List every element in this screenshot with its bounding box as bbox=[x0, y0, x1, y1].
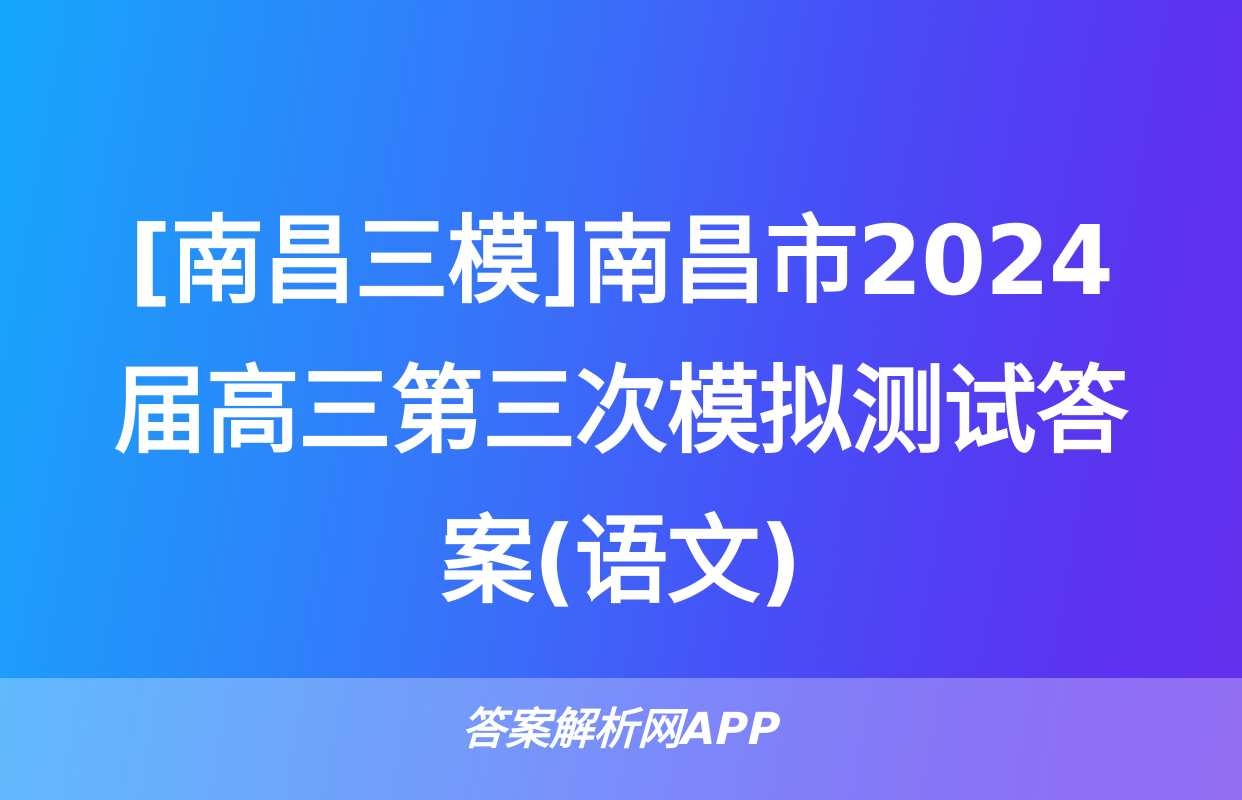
poster-canvas: [南昌三模]南昌市2024 届高三第三次模拟测试答 案(语文) 答案解析网APP bbox=[0, 0, 1242, 800]
poster-title: [南昌三模]南昌市2024 届高三第三次模拟测试答 案(语文) bbox=[0, 186, 1242, 636]
app-watermark: 答案解析网APP bbox=[0, 702, 1242, 758]
title-line-2: 届高三第三次模拟测试答 bbox=[69, 336, 1173, 486]
title-line-1: [南昌三模]南昌市2024 bbox=[69, 186, 1173, 336]
title-line-3: 案(语文) bbox=[69, 486, 1173, 636]
